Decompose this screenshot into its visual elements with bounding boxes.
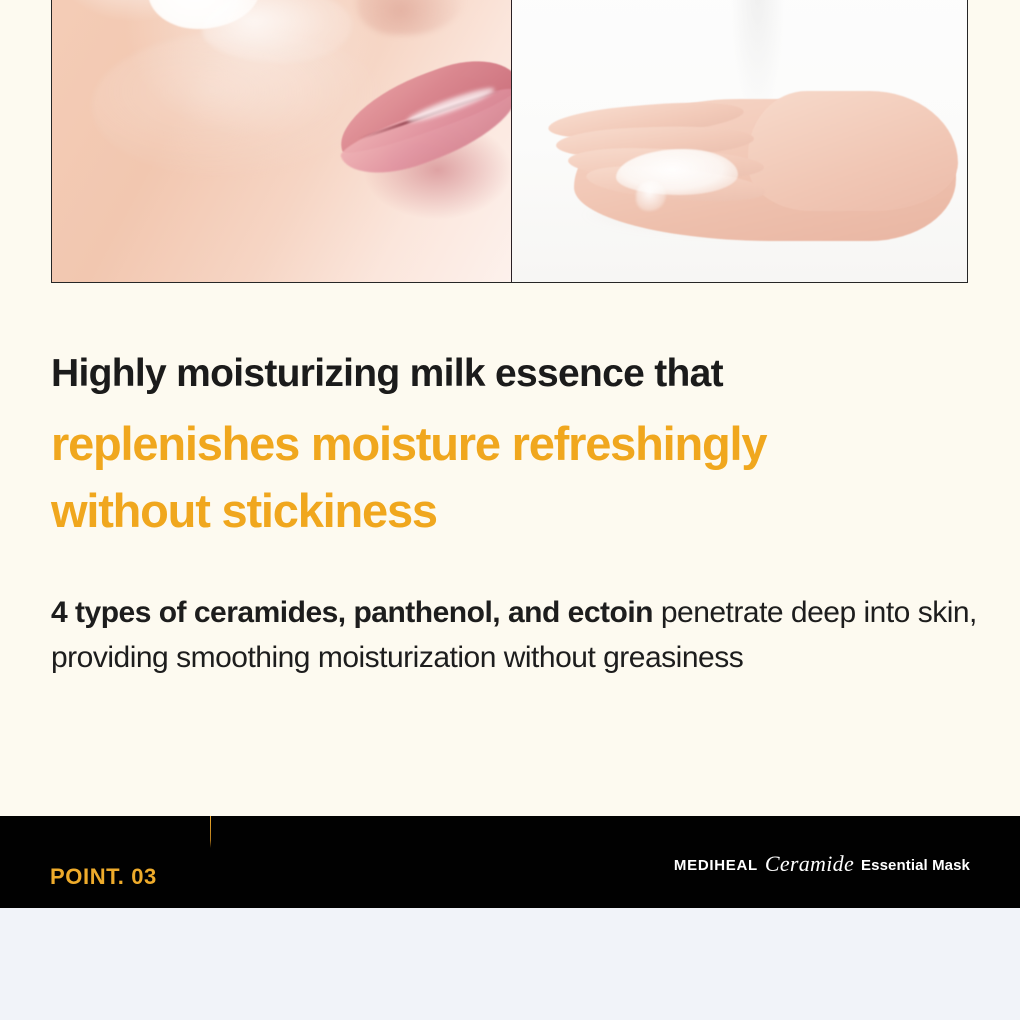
headline-primary: Highly moisturizing milk essence that bbox=[51, 352, 981, 396]
brand-name: MEDIHEAL bbox=[674, 857, 758, 874]
headline-accent-line-2: without stickiness bbox=[51, 477, 981, 545]
nose-shading bbox=[357, 0, 467, 35]
face-closeup-with-cream-image bbox=[52, 0, 512, 282]
brand-product-name: Essential Mask bbox=[861, 857, 970, 874]
body-description: 4 types of ceramides, panthenol, and ect… bbox=[51, 590, 981, 680]
brand-lockup: MEDIHEAL Ceramide Essential Mask bbox=[674, 850, 970, 876]
brand-line-name: Ceramide bbox=[765, 851, 854, 877]
point-divider-tick bbox=[210, 816, 211, 848]
thumb-base bbox=[748, 91, 958, 211]
product-image-gallery bbox=[51, 0, 968, 283]
palm-with-essence-image bbox=[512, 0, 967, 282]
headline-accent: replenishes moisture refreshingly withou… bbox=[51, 410, 981, 545]
content-panel: Highly moisturizing milk essence that re… bbox=[0, 0, 1020, 816]
product-detail-page: Highly moisturizing milk essence that re… bbox=[0, 0, 1020, 1020]
body-description-lead: 4 types of ceramides, panthenol, and ect… bbox=[51, 596, 653, 629]
page-bottom-area bbox=[0, 908, 1020, 1020]
point-number-label: POINT. 03 bbox=[50, 864, 157, 890]
headline-block: Highly moisturizing milk essence that re… bbox=[51, 352, 981, 545]
headline-accent-line-1: replenishes moisture refreshingly bbox=[51, 410, 981, 478]
